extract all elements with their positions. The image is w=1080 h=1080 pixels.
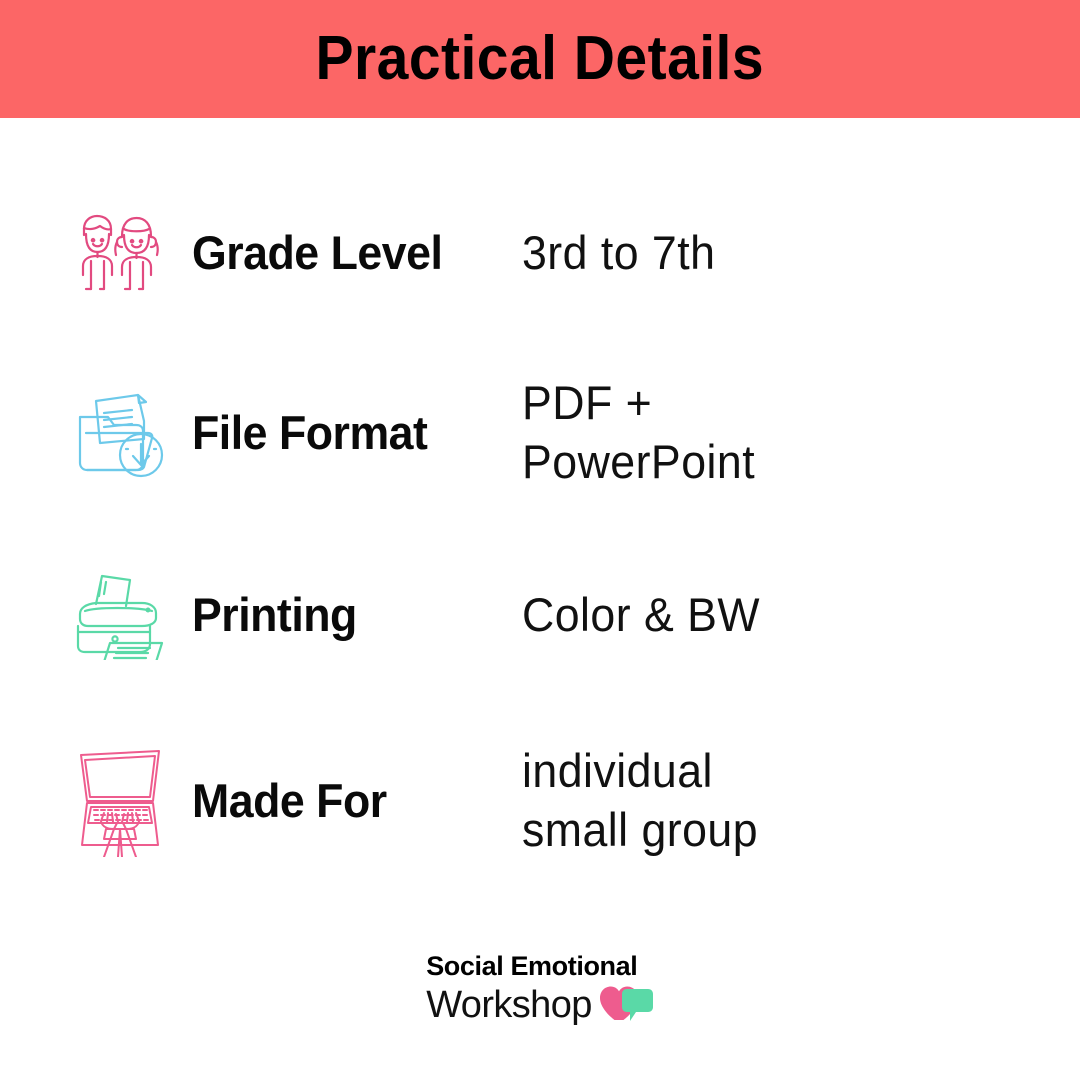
printer-icon bbox=[60, 570, 180, 660]
laptop-hands-typing-icon bbox=[60, 745, 180, 857]
detail-value-line: PowerPoint bbox=[522, 433, 1052, 492]
detail-value: 3rd to 7th bbox=[522, 224, 1052, 283]
detail-value-line: individual bbox=[522, 742, 1052, 801]
brand-name-secondary: Workshop bbox=[426, 986, 592, 1024]
detail-value-line: small group bbox=[522, 801, 1052, 860]
heart-speech-bubble-mark bbox=[598, 980, 654, 1024]
brand-logo-wrap: Social Emotional Workshop bbox=[426, 952, 654, 1024]
detail-value: Color & BW bbox=[522, 586, 1052, 645]
brand-logo-row: Workshop bbox=[426, 980, 654, 1024]
detail-label: Grade Level bbox=[192, 228, 506, 277]
detail-row: File Format PDF + PowerPoint bbox=[0, 358, 1080, 508]
brand-logo: Social Emotional Workshop bbox=[0, 952, 1080, 1024]
folder-document-download-icon bbox=[60, 387, 180, 479]
detail-row: Grade Level 3rd to 7th bbox=[0, 188, 1080, 318]
detail-value-line: Color & BW bbox=[522, 586, 1052, 645]
two-children-icon bbox=[60, 213, 180, 293]
detail-row: Made For individual small group bbox=[0, 718, 1080, 883]
detail-value-line: 3rd to 7th bbox=[522, 224, 1052, 283]
detail-value-line: PDF + bbox=[522, 374, 1052, 433]
detail-label: Made For bbox=[192, 776, 506, 825]
detail-row: Printing Color & BW bbox=[0, 550, 1080, 680]
page-title: Practical Details bbox=[316, 28, 765, 90]
detail-label: Printing bbox=[192, 590, 506, 639]
detail-label: File Format bbox=[192, 408, 506, 457]
header-banner: Practical Details bbox=[0, 0, 1080, 118]
slide-canvas: Practical Details bbox=[0, 0, 1080, 1080]
brand-name-primary: Social Emotional bbox=[426, 952, 637, 980]
detail-value: individual small group bbox=[522, 742, 1052, 860]
detail-value: PDF + PowerPoint bbox=[522, 374, 1052, 492]
details-list: Grade Level 3rd to 7th bbox=[0, 118, 1080, 928]
